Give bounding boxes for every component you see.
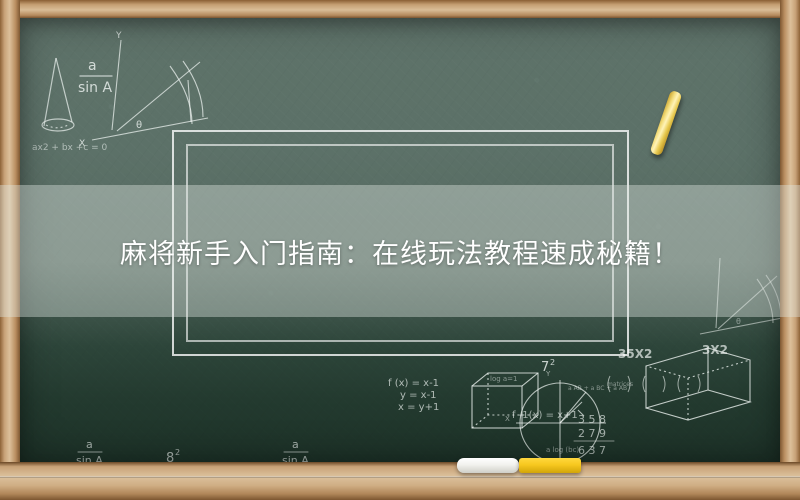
- ledge-highlight-line: [0, 476, 800, 478]
- white-chalk-on-ledge[interactable]: [457, 458, 519, 473]
- frame-top-rail: [0, 0, 800, 18]
- title-container: 麻将新手入门指南：在线玩法教程速成秘籍！: [0, 185, 800, 317]
- screenshot-stage: a sin A ax2 + bx +c = 0 Y X θ: [0, 0, 800, 500]
- yellow-chalk-on-ledge[interactable]: [519, 458, 581, 473]
- frame-bottom-ledge: [0, 462, 800, 500]
- page-title: 麻将新手入门指南：在线玩法教程速成秘籍！: [120, 232, 680, 271]
